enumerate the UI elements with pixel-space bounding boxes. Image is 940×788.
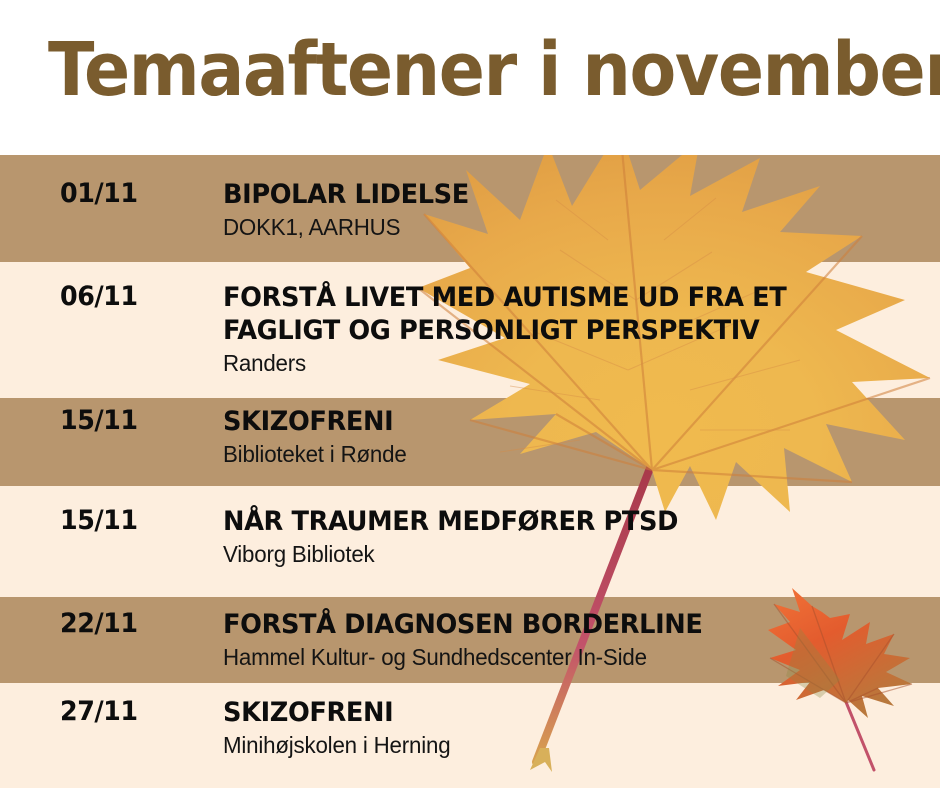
schedule-row[interactable]: 15/11NÅR TRAUMER MEDFØRER PTSDViborg Bib… xyxy=(0,505,940,616)
event-date: 01/11 xyxy=(60,178,201,210)
event-venue: Randers xyxy=(223,349,902,378)
event-venue: Minihøjskolen i Herning xyxy=(223,731,902,760)
event-title: SKIZOFRENI xyxy=(223,696,888,729)
event-date: 06/11 xyxy=(60,281,201,313)
schedule-row[interactable]: 15/11SKIZOFRENIBiblioteket i Rønde xyxy=(0,405,940,493)
event-venue: Hammel Kultur- og Sundhedscenter In-Side xyxy=(223,643,902,672)
event-venue: DOKK1, AARHUS xyxy=(223,213,902,242)
event-title: FORSTÅ LIVET MED AUTISME UD FRA ET FAGLI… xyxy=(223,281,888,347)
poster: Temaaftener i november 01/11BIPOLAR LIDE… xyxy=(0,0,940,788)
page-title: Temaaftener i november xyxy=(48,28,940,112)
schedule-row[interactable]: 27/11SKIZOFRENIMinihøjskolen i Herning xyxy=(0,696,940,788)
event-body: SKIZOFRENIBiblioteket i Rønde xyxy=(223,405,923,469)
event-date: 15/11 xyxy=(60,505,201,537)
header: Temaaftener i november xyxy=(0,0,940,155)
event-body: BIPOLAR LIDELSEDOKK1, AARHUS xyxy=(223,178,923,242)
event-date: 22/11 xyxy=(60,608,201,640)
event-body: FORSTÅ DIAGNOSEN BORDERLINEHammel Kultur… xyxy=(223,608,923,672)
schedule-row[interactable]: 01/11BIPOLAR LIDELSEDOKK1, AARHUS xyxy=(0,178,940,285)
event-date: 15/11 xyxy=(60,405,201,437)
event-date: 27/11 xyxy=(60,696,201,728)
event-body: FORSTÅ LIVET MED AUTISME UD FRA ET FAGLI… xyxy=(223,281,923,378)
event-title: NÅR TRAUMER MEDFØRER PTSD xyxy=(223,505,888,538)
event-venue: Viborg Bibliotek xyxy=(223,540,902,569)
event-body: SKIZOFRENIMinihøjskolen i Herning xyxy=(223,696,923,760)
schedule-row[interactable]: 22/11FORSTÅ DIAGNOSEN BORDERLINEHammel K… xyxy=(0,608,940,694)
schedule-row[interactable]: 06/11FORSTÅ LIVET MED AUTISME UD FRA ET … xyxy=(0,281,940,417)
event-title: FORSTÅ DIAGNOSEN BORDERLINE xyxy=(223,608,888,641)
event-title: BIPOLAR LIDELSE xyxy=(223,178,888,211)
event-body: NÅR TRAUMER MEDFØRER PTSDViborg Bibliote… xyxy=(223,505,923,569)
event-title: SKIZOFRENI xyxy=(223,405,888,438)
event-venue: Biblioteket i Rønde xyxy=(223,440,902,469)
